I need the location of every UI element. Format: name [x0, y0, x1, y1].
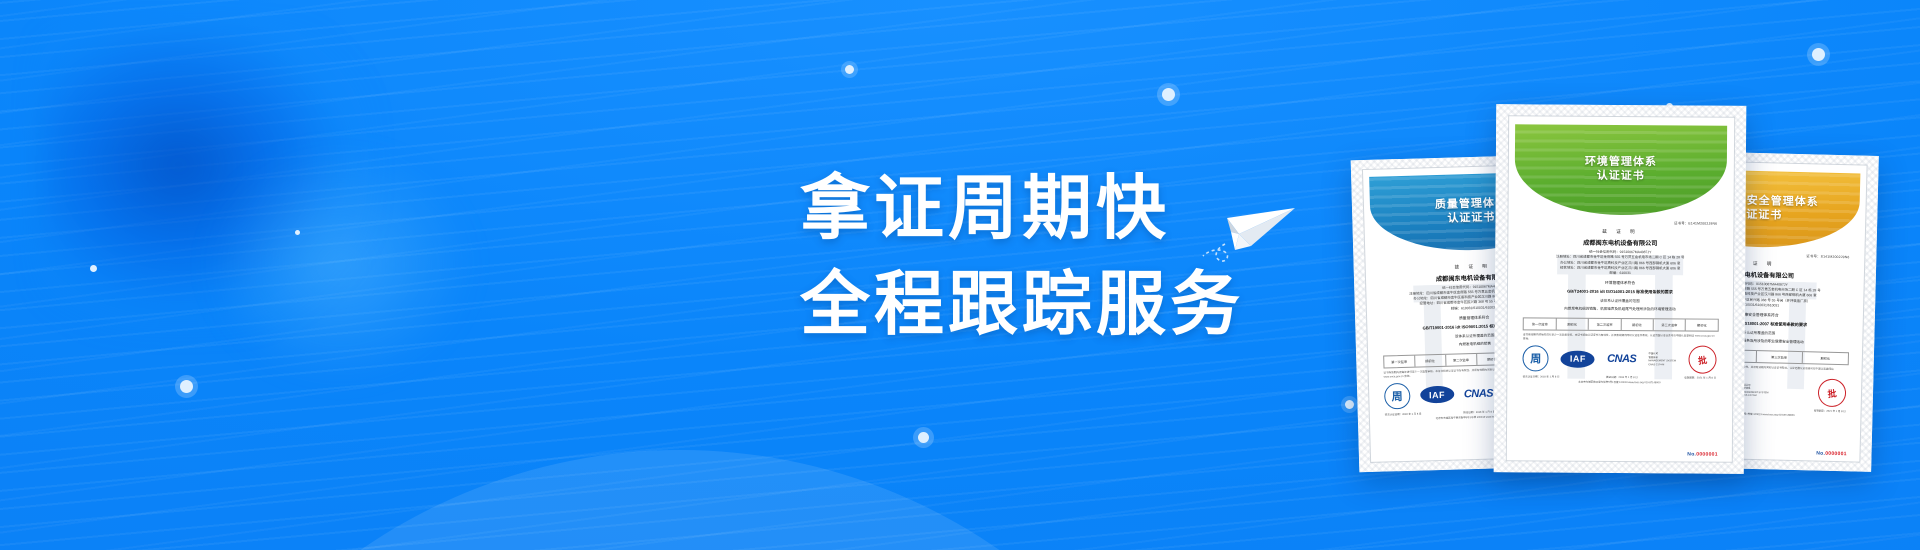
dot-2-icon	[295, 230, 300, 235]
certificate-audit-cell-3: 第三次监审	[1756, 351, 1803, 363]
certificate-date-2: 有效期至：2021 年 1 月 8 日	[1814, 408, 1846, 413]
certificate-logo-row: 周IAFCNAS中国认可 管理体系 MANAGEMENT SYSTEM CNAS…	[1523, 346, 1717, 373]
dot-3-icon	[845, 65, 854, 74]
certificate-page: 环境管理体系认证证书证书号：E141M2002J9N6兹 证 明成都闽东电机设备…	[1506, 116, 1733, 462]
certificate-audit-cell-1: 第一次监审	[1524, 319, 1556, 330]
certificate-title-band: 环境管理体系认证证书	[1515, 125, 1727, 216]
certificate-audit-cell-3: 第二次监审	[1589, 319, 1621, 330]
certificate-audit-cell-3: 第二次监审	[1446, 354, 1477, 366]
certificate-date-2: 换证日期：2018 年 1 月 8 日	[1606, 375, 1638, 379]
certificate-audit-cell-2: 期初化	[1415, 355, 1446, 367]
certificate-audit-cell-2: 期初化	[1556, 319, 1588, 330]
cnas-accreditation-text: 中国认可 管理体系 MANAGEMENT SYSTEM CNAS C174-M	[1741, 384, 1769, 399]
certificate-company-name: 成都闽东电机设备有限公司	[1524, 237, 1718, 247]
certificate-serial-prefix: No.	[1687, 452, 1696, 458]
china-certification-seal-icon: 周	[1523, 346, 1549, 372]
china-certification-seal-icon: 周	[1384, 383, 1411, 410]
certificate-scope-label: 该体系认证所覆盖的范围	[1523, 299, 1717, 305]
cnas-logo-icon: CNAS	[1464, 387, 1493, 400]
certificate-serial-prefix: No.	[1816, 451, 1825, 457]
iaf-logo-icon: IAF	[1420, 386, 1454, 404]
certificate-system-label: 环境管理体系符合	[1523, 281, 1717, 287]
certificate-postcode: 邮编：610031	[1523, 270, 1717, 277]
dot-7-icon	[1345, 400, 1354, 409]
certificate-group: 质量管理体系认证证书证书号：CT45M2002J9N6兹 证 明成都闽东电机设备…	[1355, 85, 1915, 485]
certificate-environmental-management[interactable]: 环境管理体系认证证书证书号：E141M2002J9N6兹 证 明成都闽东电机设备…	[1494, 104, 1747, 474]
certificate-number: 证书号：E141M2002J9N6	[1524, 219, 1718, 225]
headline-line-1: 拿证周期快	[800, 160, 1244, 256]
decorative-circle-large	[120, 450, 1240, 550]
dot-9-icon	[918, 432, 929, 443]
certificate-serial-number: No.0000001	[1687, 452, 1718, 458]
cnas-logo-icon: CNAS	[1607, 353, 1636, 365]
certificate-audit-cell-4: 期初化	[1803, 352, 1849, 364]
dot-5-icon	[1812, 48, 1825, 61]
certificate-issuer-address: 北京市东城区和平里东街甲5号1号楼 100013 www.hxcc.org 01…	[1523, 380, 1717, 385]
headline-block: 拿证周期快 全程跟踪服务	[800, 160, 1244, 352]
iaf-logo-icon: IAF	[1561, 350, 1595, 367]
certificate-audit-table: 第一次监审期初化第二次监审期初化第三次监审期初化	[1523, 318, 1719, 332]
certificate-audit-cell-1: 第一次监审	[1384, 356, 1415, 368]
red-stamp-icon: 批	[1686, 344, 1717, 375]
certificate-title-line-2: 认证证书	[1597, 170, 1645, 184]
cnas-accreditation-text: 中国认可 管理体系 MANAGEMENT SYSTEM CNAS C174-M	[1648, 352, 1676, 366]
dot-4-icon	[1162, 88, 1175, 101]
certificate-date-3: 有效期至：2021 年 1 月 8 日	[1684, 376, 1716, 380]
dark-glow-blob	[40, 30, 370, 330]
promo-banner: 拿证周期快 全程跟踪服务 质量管理体系认证证书证书号：CT45M2002J9N6…	[0, 0, 1920, 550]
dot-8-icon	[180, 380, 193, 393]
light-glow-blob	[210, 150, 470, 380]
paper-plane-icon	[1195, 188, 1305, 268]
certificate-body: 证书号：E141M2002J9N6兹 证 明成都闽东电机设备有限公司统一社会信用…	[1522, 219, 1717, 451]
certificate-guilloche-border: 环境管理体系认证证书证书号：E141M2002J9N6兹 证 明成都闽东电机设备…	[1494, 104, 1747, 474]
certificate-title-line-2: 认证证书	[1447, 212, 1495, 227]
headline-line-2: 全程跟踪服务	[800, 256, 1244, 352]
certificate-heading: 兹 证 明	[1524, 228, 1718, 235]
certificate-date-1: 初次认证日期：2018 年 1 月 8 日	[1523, 375, 1560, 379]
certificate-scope: 内燃发电机组的销售、机房噪声及机组尾气处理所涉及的环境管理活动	[1523, 307, 1717, 313]
dot-1-icon	[90, 265, 97, 272]
certificate-audit-cell-4: 期初化	[1621, 319, 1653, 330]
certificate-serial-number: No.0000001	[1816, 451, 1847, 458]
certificate-standard: GB/T24001-2016 idt ISO14001:2015 标准使用条款的…	[1523, 289, 1717, 296]
certificate-fine-print: 证书有效期内须每年进行至少一次监督审核，本证书初始认证证书为有效性，并须有效期内…	[1523, 334, 1717, 343]
red-stamp-icon: 批	[1817, 377, 1848, 408]
certificate-title-line-1: 环境管理体系	[1585, 156, 1657, 170]
certificate-audit-cell-5: 第三次监审	[1654, 320, 1686, 331]
certificate-audit-cell-6: 期初化	[1686, 320, 1717, 331]
